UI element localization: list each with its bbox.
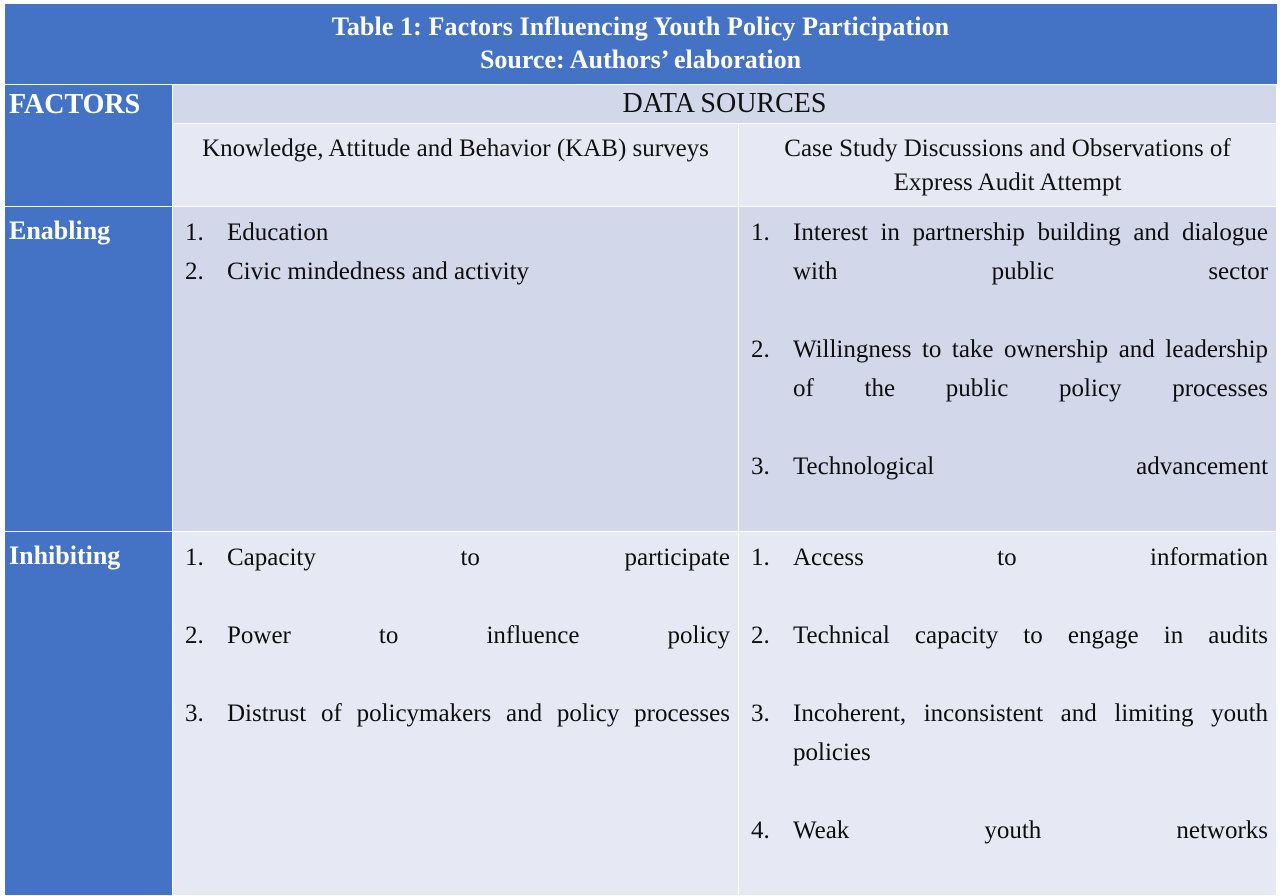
row-category-inhibiting: Inhibiting xyxy=(5,532,173,896)
list-item: Willingness to take ownership and leader… xyxy=(749,330,1268,447)
list-inhibiting-kab: Capacity to participate Power to influen… xyxy=(183,538,730,772)
cell-inhibiting-case-study: Access to information Technical capacity… xyxy=(739,532,1277,896)
list-enabling-case-study: Interest in partnership building and dia… xyxy=(749,213,1268,525)
table-title-row: Table 1: Factors Influencing Youth Polic… xyxy=(5,4,1277,85)
list-item: Power to influence policy xyxy=(183,616,730,694)
header-factors-label: FACTORS xyxy=(9,89,140,120)
list-item: Technological advancement xyxy=(749,447,1268,525)
row-category-label: Enabling xyxy=(9,216,110,245)
table-title-line-2: Source: Authors’ elaboration xyxy=(5,43,1277,76)
header-column-kab: Knowledge, Attitude and Behavior (KAB) s… xyxy=(173,124,739,207)
list-item: Civic mindedness and activity xyxy=(183,252,730,291)
factors-table: Table 1: Factors Influencing Youth Polic… xyxy=(4,4,1277,896)
header-column-kab-label: Knowledge, Attitude and Behavior (KAB) s… xyxy=(202,135,709,162)
list-item: Capacity to participate xyxy=(183,538,730,616)
table-row: Inhibiting Capacity to participate Power… xyxy=(5,532,1277,896)
header-column-case-study-label: Case Study Discussions and Observations … xyxy=(784,135,1231,196)
list-item: Weak youth networks xyxy=(749,811,1268,889)
list-item: Access to information xyxy=(749,538,1268,616)
list-item: Interest in partnership building and dia… xyxy=(749,213,1268,330)
list-inhibiting-case-study: Access to information Technical capacity… xyxy=(749,538,1268,889)
header-data-sources-label: DATA SOURCES xyxy=(623,88,827,119)
cell-enabling-kab: Education Civic mindedness and activity xyxy=(173,207,739,532)
list-item: Incoherent, inconsistent and limiting yo… xyxy=(749,694,1268,811)
header-data-sources-cell: DATA SOURCES xyxy=(173,85,1277,124)
row-category-enabling: Enabling xyxy=(5,207,173,532)
header-row-source-columns: Knowledge, Attitude and Behavior (KAB) s… xyxy=(5,124,1277,207)
list-item: Distrust of policymakers and policy proc… xyxy=(183,694,730,772)
row-category-label: Inhibiting xyxy=(9,541,120,570)
cell-inhibiting-kab: Capacity to participate Power to influen… xyxy=(173,532,739,896)
header-factors-cell: FACTORS xyxy=(5,85,173,207)
list-item: Education xyxy=(183,213,730,252)
table-container: Table 1: Factors Influencing Youth Polic… xyxy=(4,4,1276,718)
list-enabling-kab: Education Civic mindedness and activity xyxy=(183,213,730,291)
table-title-line-1: Table 1: Factors Influencing Youth Polic… xyxy=(5,10,1277,43)
list-item: Technical capacity to engage in audits xyxy=(749,616,1268,694)
table-title-cell: Table 1: Factors Influencing Youth Polic… xyxy=(5,4,1277,85)
table-row: Enabling Education Civic mindedness and … xyxy=(5,207,1277,532)
header-row-data-sources: FACTORS DATA SOURCES xyxy=(5,85,1277,124)
header-column-case-study: Case Study Discussions and Observations … xyxy=(739,124,1277,207)
cell-enabling-case-study: Interest in partnership building and dia… xyxy=(739,207,1277,532)
